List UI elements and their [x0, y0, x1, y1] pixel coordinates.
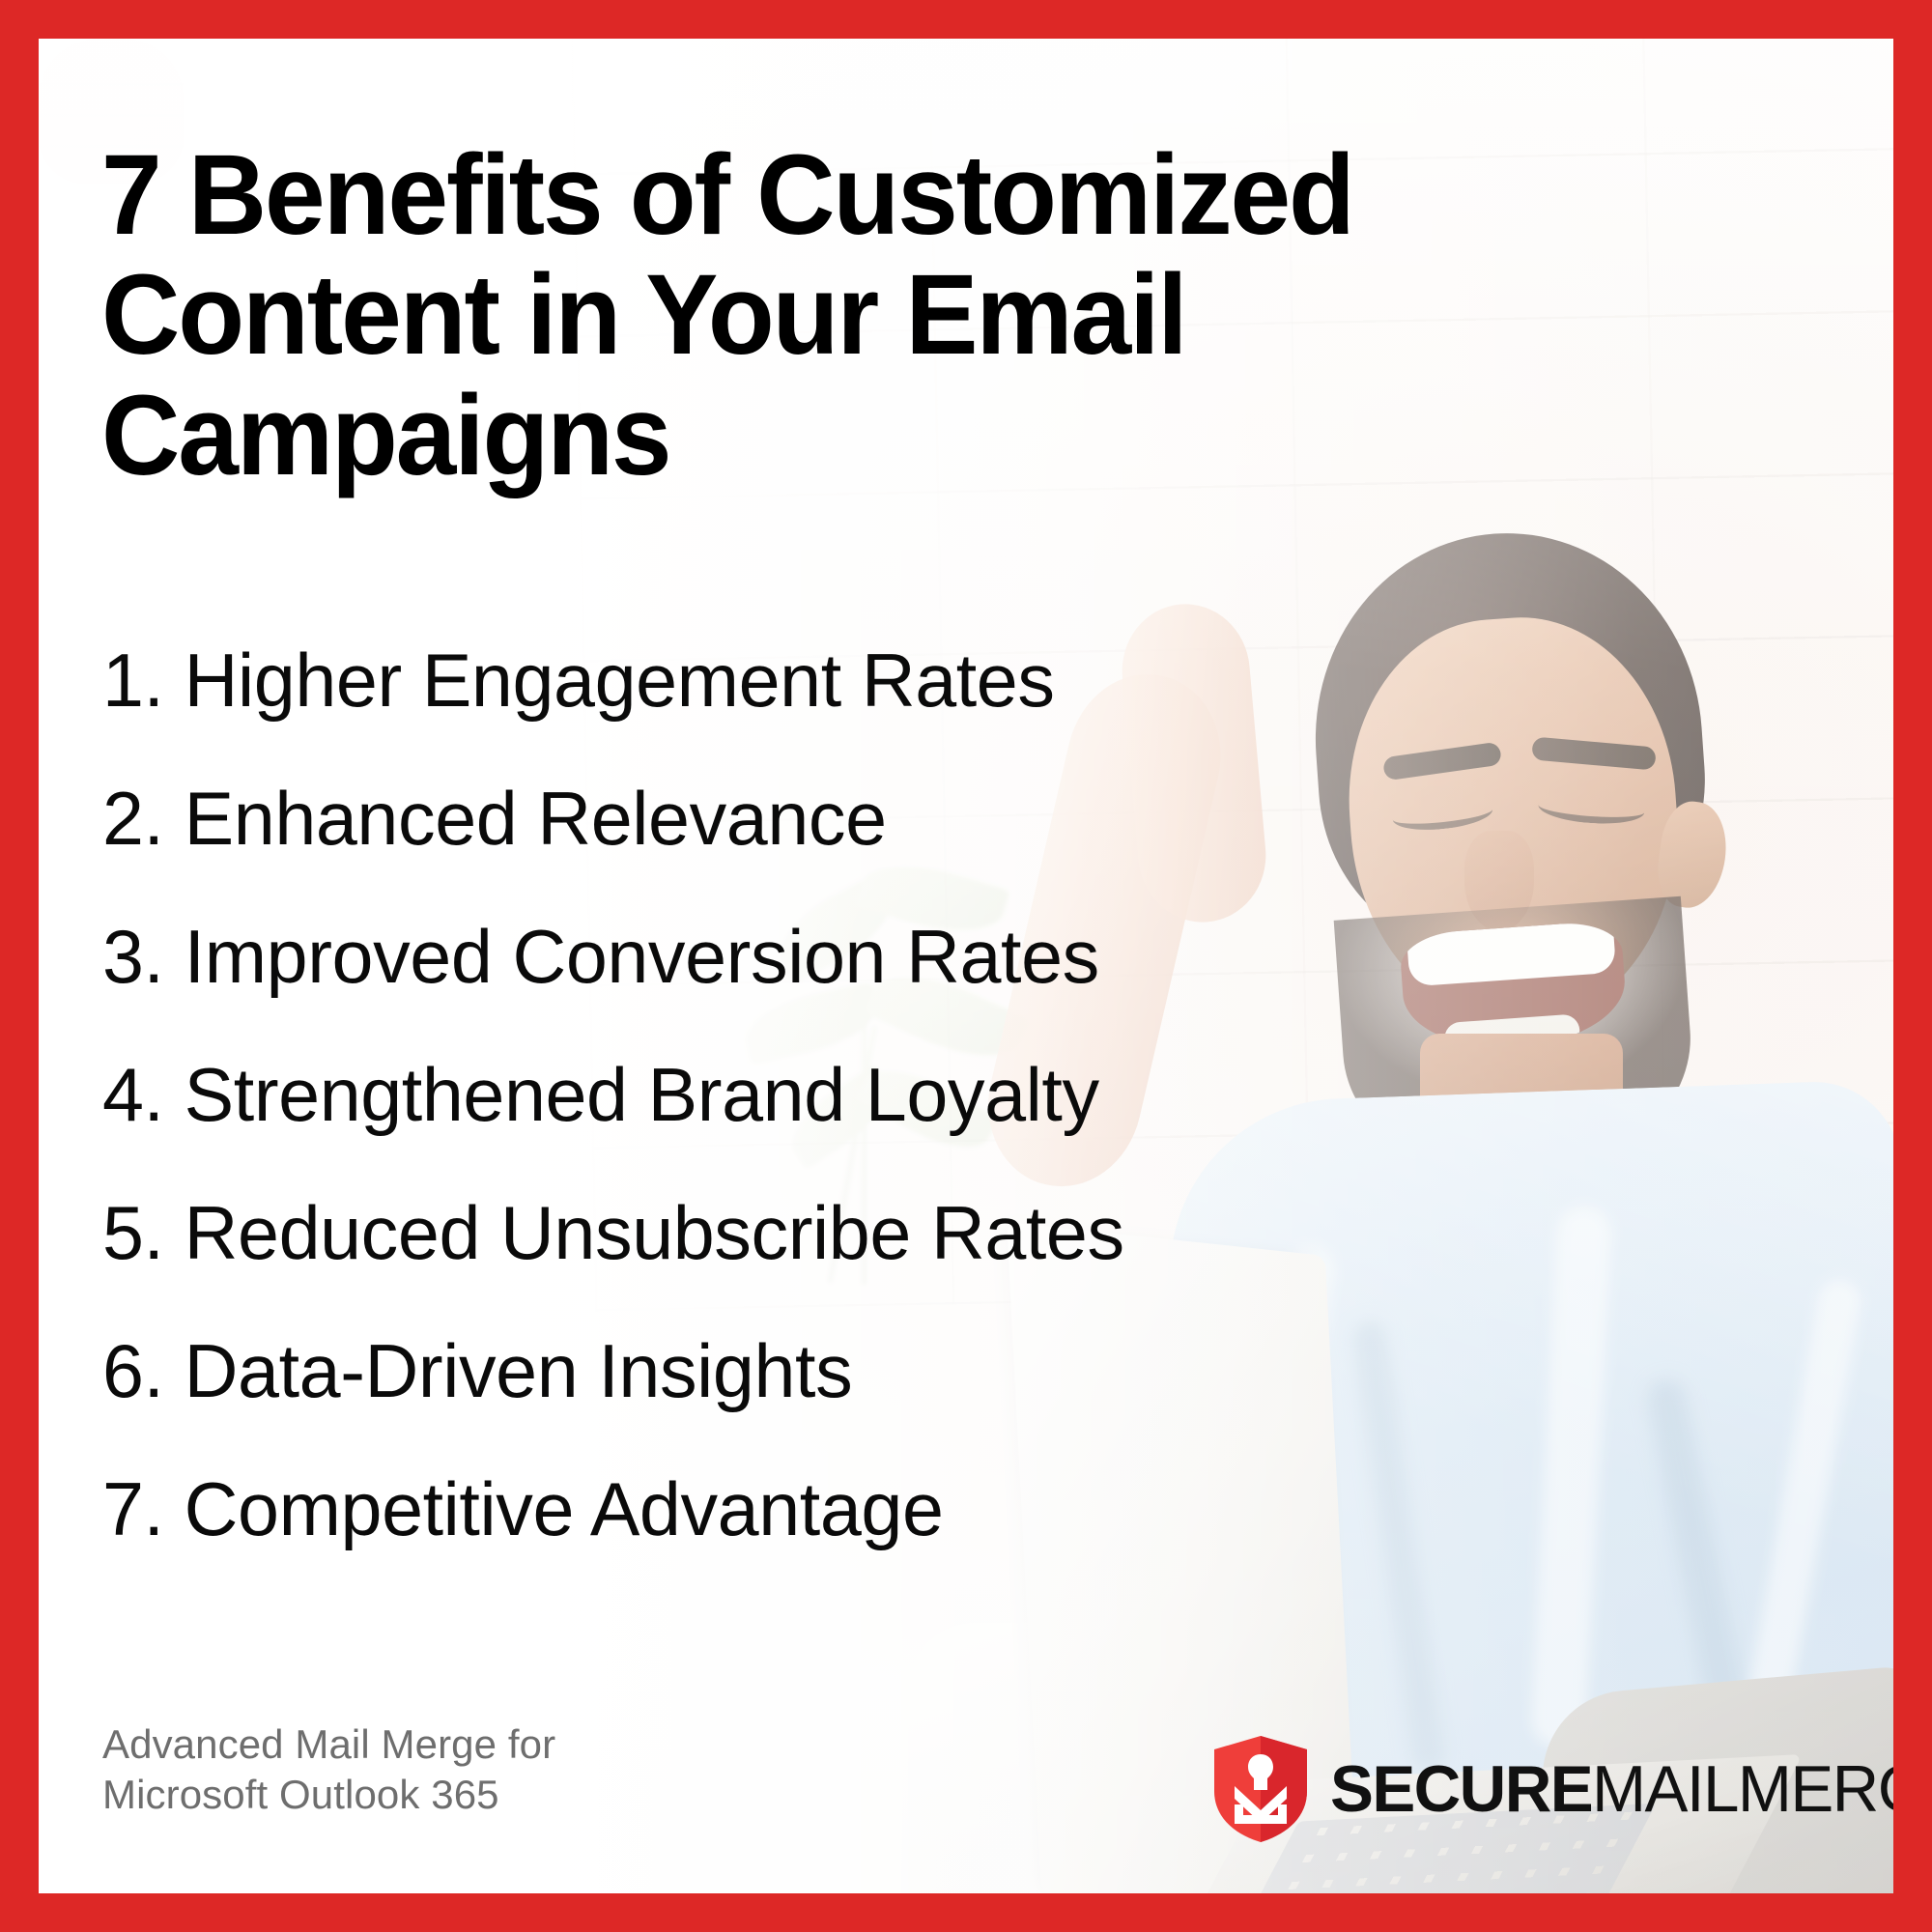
- shield-inbox-icon: [1210, 1735, 1311, 1843]
- tagline-line-2: Microsoft Outlook 365: [102, 1770, 555, 1820]
- brand-wordmark: SECUREMAILMERGE: [1330, 1756, 1893, 1822]
- list-item: 5. Reduced Unsubscribe Rates: [102, 1195, 1461, 1333]
- list-item: 1. Higher Engagement Rates: [102, 642, 1461, 781]
- list-item: 3. Improved Conversion Rates: [102, 919, 1461, 1057]
- poster-canvas: 7 Benefits of Customized Content in Your…: [39, 39, 1893, 1893]
- wordmark-mailmerge: MAILMERGE: [1592, 1752, 1893, 1826]
- benefits-list: 1. Higher Engagement Rates 2. Enhanced R…: [102, 642, 1474, 1609]
- wordmark-secure: SECURE: [1330, 1752, 1592, 1826]
- tagline-line-1: Advanced Mail Merge for: [102, 1719, 555, 1770]
- list-item: 4. Strengthened Brand Loyalty: [102, 1057, 1461, 1195]
- list-item: 7. Competitive Advantage: [102, 1471, 1461, 1609]
- page-title: 7 Benefits of Customized Content in Your…: [101, 135, 1411, 496]
- poster-content: 7 Benefits of Customized Content in Your…: [39, 39, 1893, 1893]
- list-item: 6. Data-Driven Insights: [102, 1333, 1461, 1471]
- list-item: 2. Enhanced Relevance: [102, 781, 1461, 919]
- product-tagline: Advanced Mail Merge for Microsoft Outloo…: [102, 1719, 555, 1820]
- poster-frame: 7 Benefits of Customized Content in Your…: [0, 0, 1932, 1932]
- brand-logo: SECUREMAILMERGE: [1210, 1731, 1893, 1847]
